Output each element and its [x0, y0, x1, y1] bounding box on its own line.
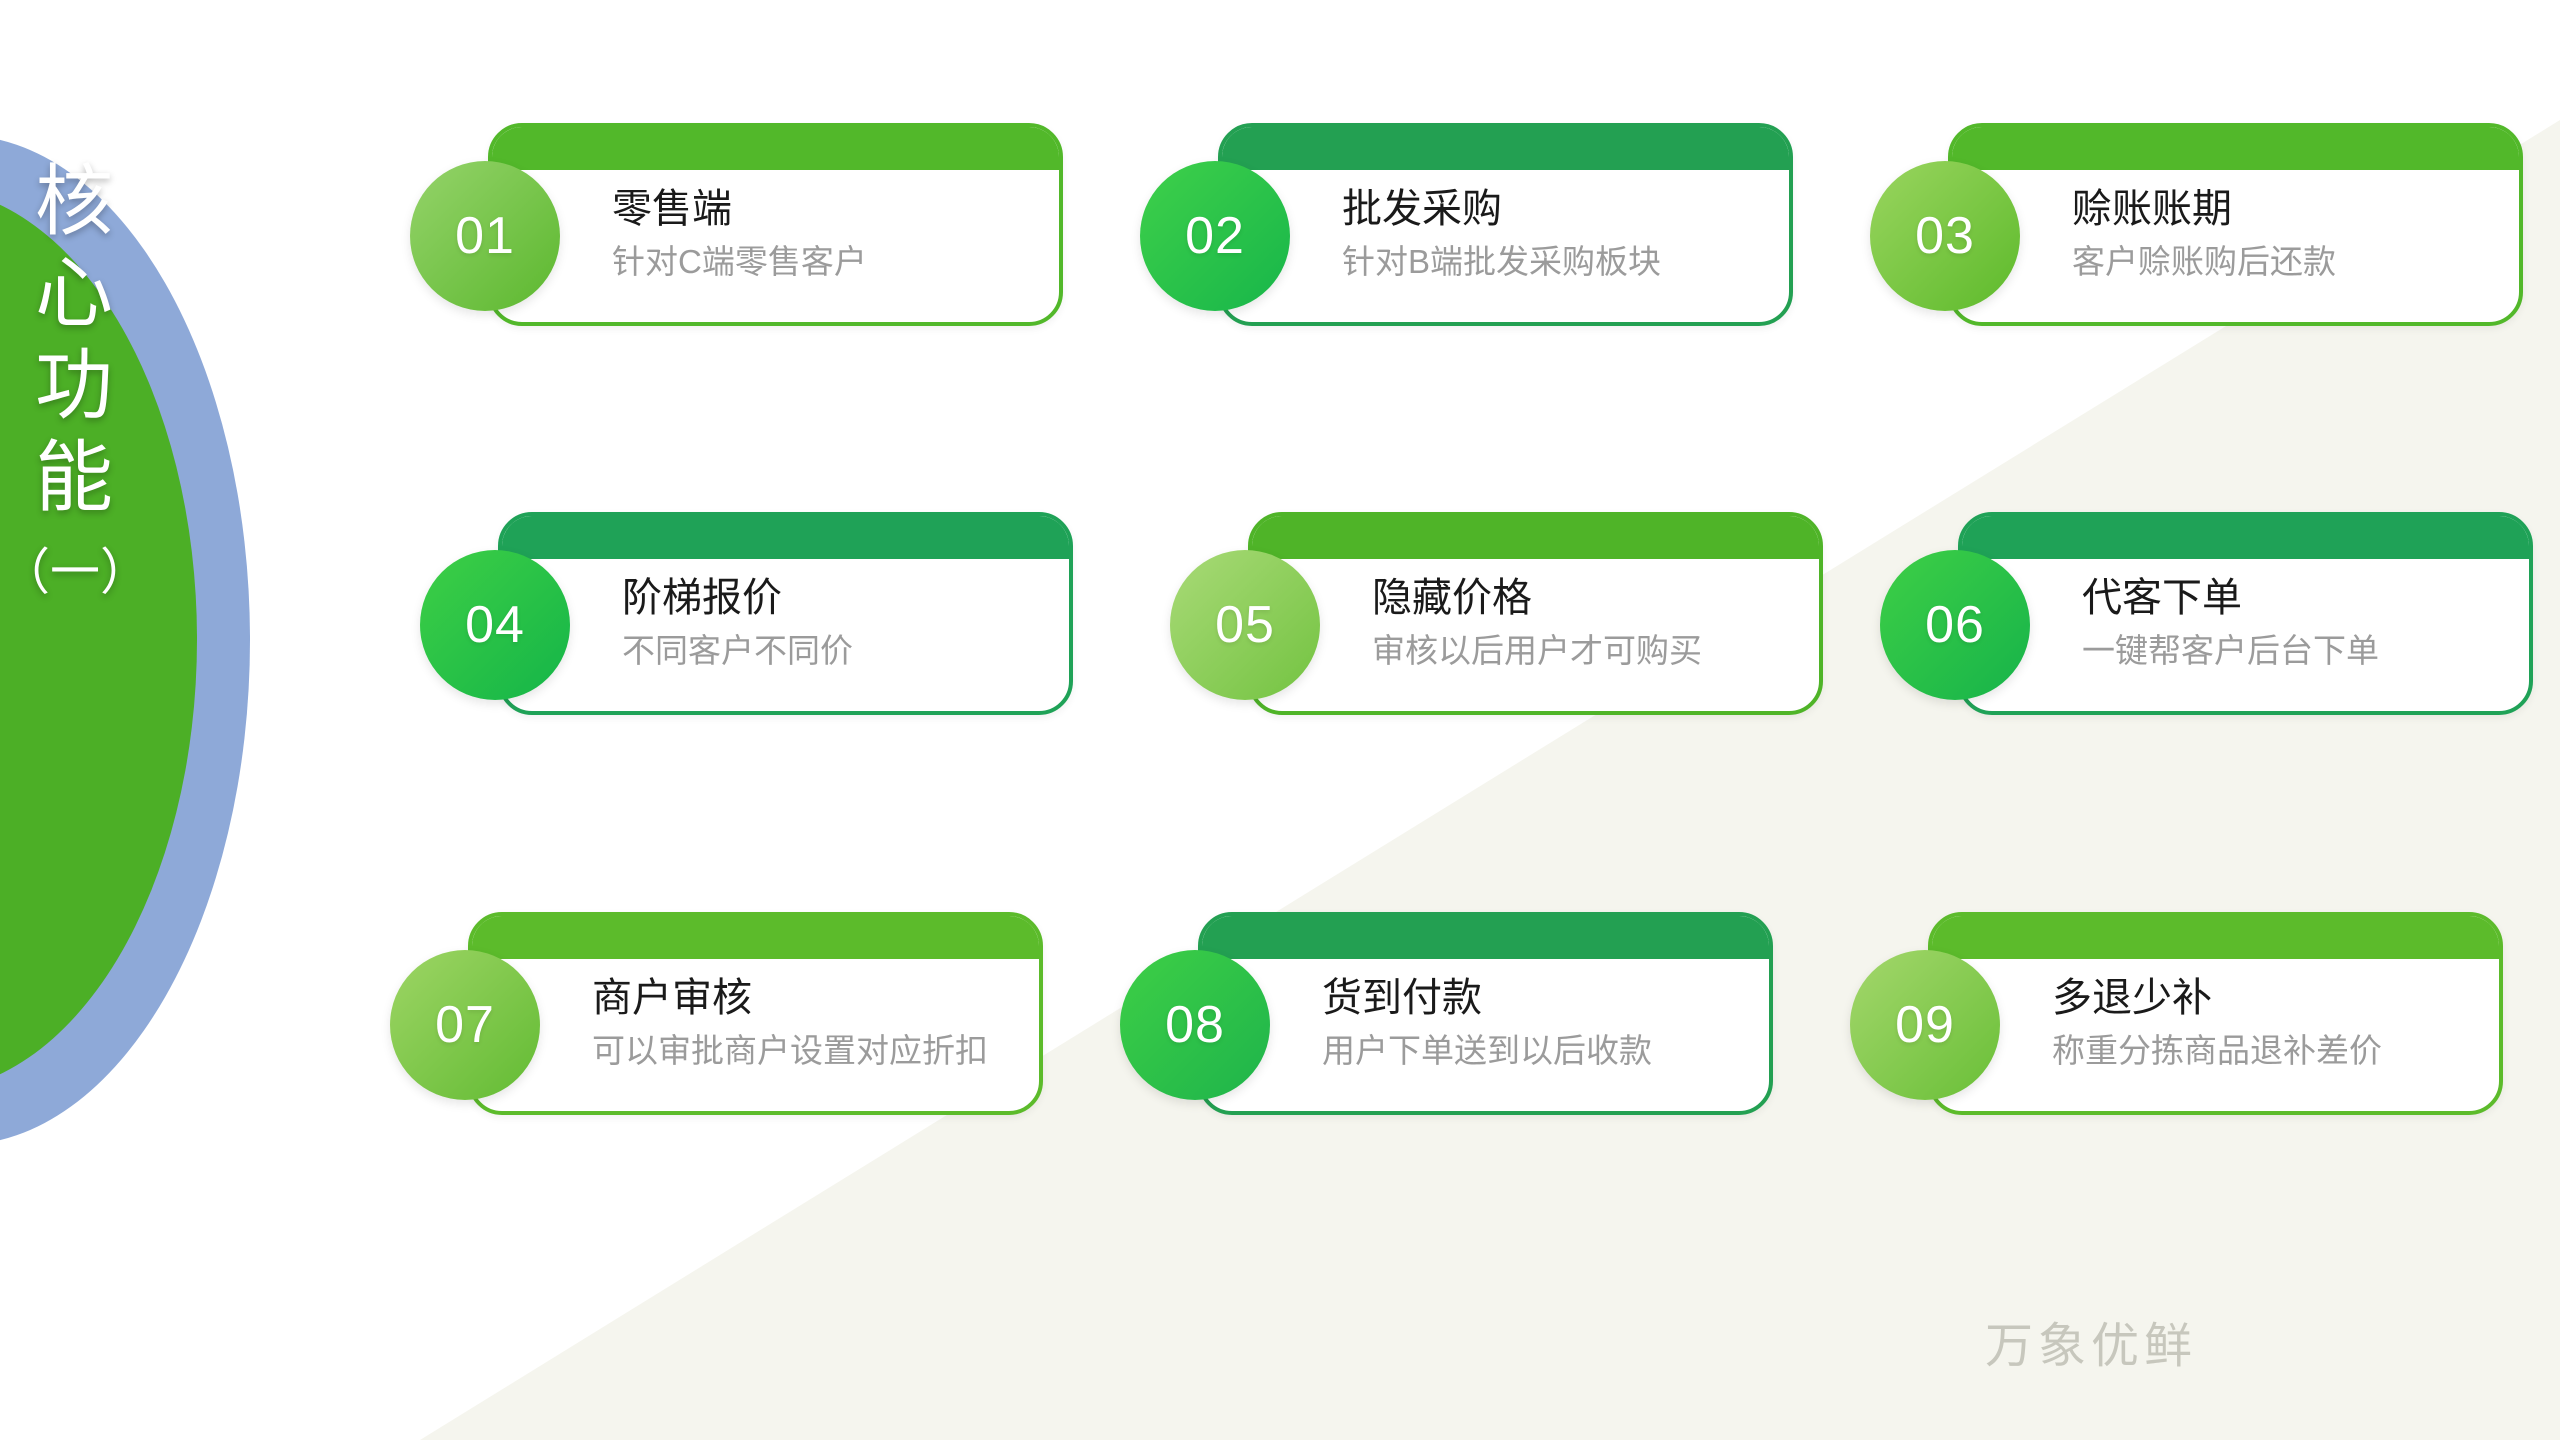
- feature-card-top-band: [1931, 915, 2503, 959]
- feature-card-title: 批发采购: [1342, 183, 1782, 235]
- feature-card-text: 货到付款用户下单送到以后收款: [1322, 972, 1762, 1072]
- feature-card-title: 阶梯报价: [622, 572, 1062, 624]
- feature-card-number: 05: [1215, 599, 1275, 651]
- feature-card-top-band: [1201, 915, 1773, 959]
- feature-card-06[interactable]: 代客下单一键帮客户后台下单06: [1958, 512, 2533, 715]
- feature-card-top-band: [471, 915, 1043, 959]
- feature-card-01[interactable]: 零售端针对C端零售客户01: [488, 123, 1063, 326]
- feature-card-number: 08: [1165, 999, 1225, 1051]
- feature-card-body: 阶梯报价不同客户不同价: [498, 512, 1073, 715]
- feature-card-grid: 零售端针对C端零售客户01批发采购针对B端批发采购板块02赊账账期客户赊账购后还…: [0, 0, 2560, 1440]
- watermark-brand: 万象优鲜: [1985, 1318, 2197, 1376]
- feature-card-02[interactable]: 批发采购针对B端批发采购板块02: [1218, 123, 1793, 326]
- feature-card-body: 隐藏价格审核以后用户才可购买: [1248, 512, 1823, 715]
- feature-card-body: 商户审核可以审批商户设置对应折扣: [468, 912, 1043, 1115]
- feature-card-title: 货到付款: [1322, 972, 1762, 1024]
- feature-card-text: 批发采购针对B端批发采购板块: [1342, 183, 1782, 283]
- feature-card-08[interactable]: 货到付款用户下单送到以后收款08: [1198, 912, 1773, 1115]
- feature-card-description: 针对B端批发采购板块: [1342, 241, 1782, 283]
- feature-card-number-badge[interactable]: 07: [390, 950, 540, 1100]
- feature-card-description: 不同客户不同价: [622, 630, 1062, 672]
- feature-card-body: 货到付款用户下单送到以后收款: [1198, 912, 1773, 1115]
- feature-card-description: 针对C端零售客户: [612, 241, 1052, 283]
- feature-card-number-badge[interactable]: 08: [1120, 950, 1270, 1100]
- feature-card-top-band: [1961, 515, 2533, 559]
- feature-card-description: 可以审批商户设置对应折扣: [592, 1030, 1032, 1072]
- feature-card-text: 隐藏价格审核以后用户才可购买: [1372, 572, 1812, 672]
- feature-card-body: 赊账账期客户赊账购后还款: [1948, 123, 2523, 326]
- feature-card-text: 赊账账期客户赊账购后还款: [2072, 183, 2512, 283]
- feature-card-description: 一键帮客户后台下单: [2082, 630, 2522, 672]
- feature-card-body: 零售端针对C端零售客户: [488, 123, 1063, 326]
- feature-card-top-band: [491, 126, 1063, 170]
- feature-card-number: 04: [465, 599, 525, 651]
- feature-card-text: 阶梯报价不同客户不同价: [622, 572, 1062, 672]
- feature-card-top-band: [1221, 126, 1793, 170]
- feature-card-number-badge[interactable]: 06: [1880, 550, 2030, 700]
- feature-card-top-band: [1251, 515, 1823, 559]
- feature-card-number-badge[interactable]: 01: [410, 161, 560, 311]
- feature-card-number-badge[interactable]: 09: [1850, 950, 2000, 1100]
- feature-card-description: 用户下单送到以后收款: [1322, 1030, 1762, 1072]
- feature-card-number-badge[interactable]: 04: [420, 550, 570, 700]
- feature-card-top-band: [501, 515, 1073, 559]
- feature-card-number: 03: [1915, 210, 1975, 262]
- feature-card-number: 01: [455, 210, 515, 262]
- feature-card-05[interactable]: 隐藏价格审核以后用户才可购买05: [1248, 512, 1823, 715]
- feature-card-07[interactable]: 商户审核可以审批商户设置对应折扣07: [468, 912, 1043, 1115]
- feature-card-description: 审核以后用户才可购买: [1372, 630, 1812, 672]
- feature-card-title: 隐藏价格: [1372, 572, 1812, 624]
- feature-card-body: 代客下单一键帮客户后台下单: [1958, 512, 2533, 715]
- feature-card-title: 多退少补: [2052, 972, 2492, 1024]
- feature-card-body: 批发采购针对B端批发采购板块: [1218, 123, 1793, 326]
- feature-card-description: 客户赊账购后还款: [2072, 241, 2512, 283]
- feature-card-09[interactable]: 多退少补称重分拣商品退补差价09: [1928, 912, 2503, 1115]
- feature-card-number-badge[interactable]: 02: [1140, 161, 1290, 311]
- feature-card-03[interactable]: 赊账账期客户赊账购后还款03: [1948, 123, 2523, 326]
- slide-canvas: 核 心 功 能 （一） 零售端针对C端零售客户01批发采购针对B端批发采购板块0…: [0, 0, 2560, 1440]
- feature-card-top-band: [1951, 126, 2523, 170]
- feature-card-number: 06: [1925, 599, 1985, 651]
- feature-card-text: 零售端针对C端零售客户: [612, 183, 1052, 283]
- feature-card-description: 称重分拣商品退补差价: [2052, 1030, 2492, 1072]
- feature-card-title: 商户审核: [592, 972, 1032, 1024]
- feature-card-title: 赊账账期: [2072, 183, 2512, 235]
- feature-card-number: 07: [435, 999, 495, 1051]
- feature-card-text: 多退少补称重分拣商品退补差价: [2052, 972, 2492, 1072]
- feature-card-number: 02: [1185, 210, 1245, 262]
- feature-card-04[interactable]: 阶梯报价不同客户不同价04: [498, 512, 1073, 715]
- feature-card-body: 多退少补称重分拣商品退补差价: [1928, 912, 2503, 1115]
- feature-card-text: 商户审核可以审批商户设置对应折扣: [592, 972, 1032, 1072]
- feature-card-number-badge[interactable]: 05: [1170, 550, 1320, 700]
- feature-card-number: 09: [1895, 999, 1955, 1051]
- feature-card-title: 代客下单: [2082, 572, 2522, 624]
- feature-card-number-badge[interactable]: 03: [1870, 161, 2020, 311]
- feature-card-text: 代客下单一键帮客户后台下单: [2082, 572, 2522, 672]
- feature-card-title: 零售端: [612, 183, 1052, 235]
